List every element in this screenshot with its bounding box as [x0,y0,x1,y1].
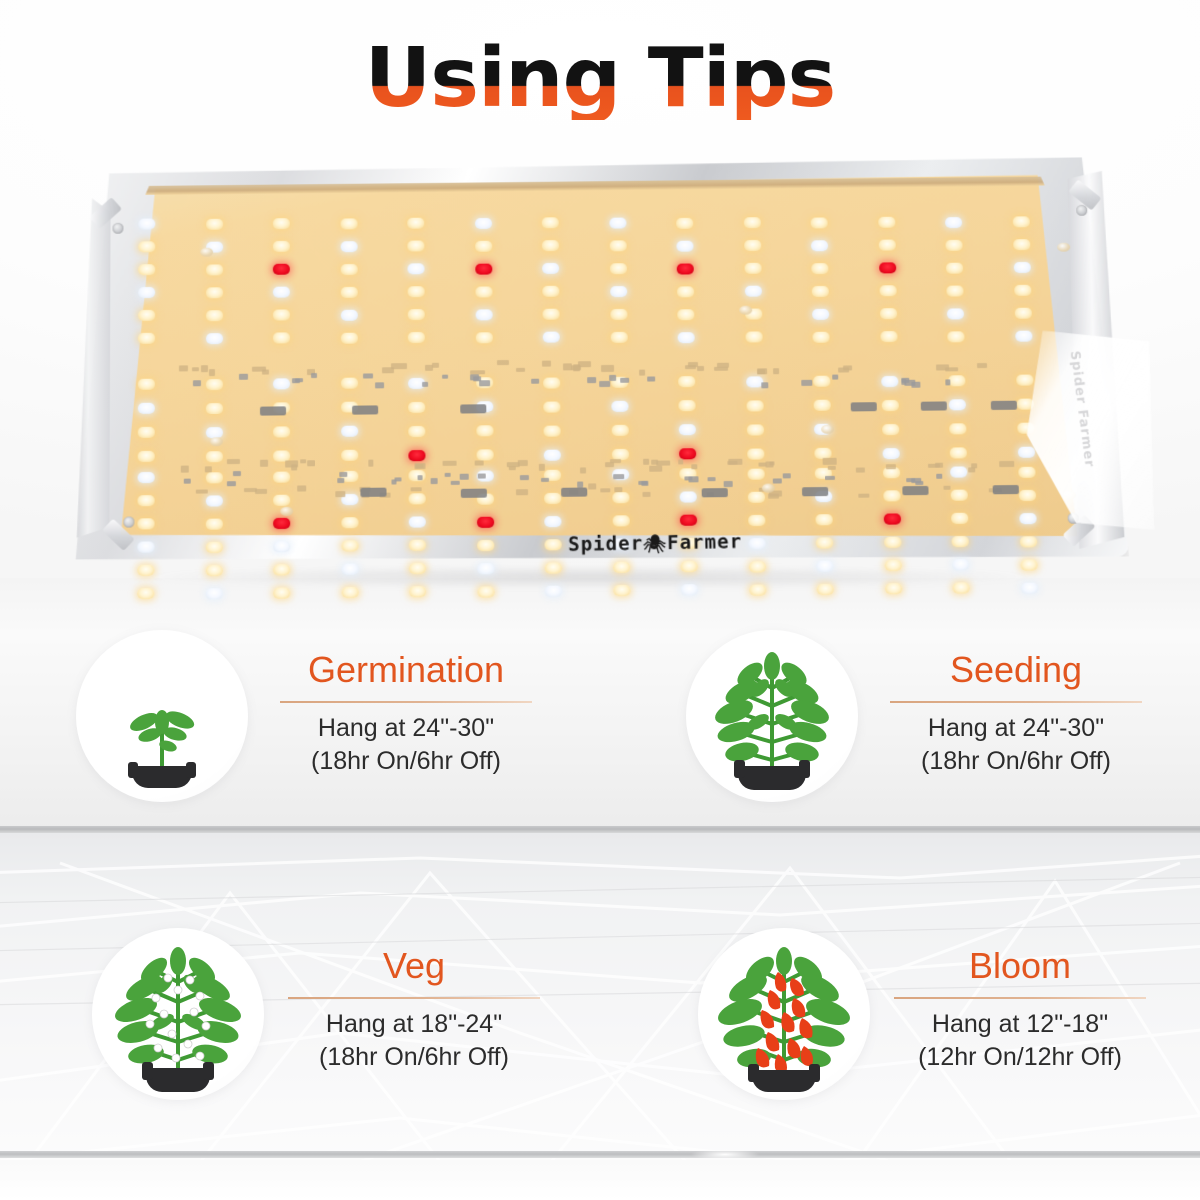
tip-icon-bubble [698,928,870,1100]
led-cool-white [678,332,695,343]
led-warm-white [138,451,155,462]
led-warm-white [881,400,898,411]
led-cool-white [408,264,425,275]
pcb-smd-component [691,464,697,469]
pcb-smd-component [539,464,545,471]
led-warm-white [812,286,829,297]
led-warm-white [950,447,967,458]
pcb-smd-component [432,363,439,368]
pcb-smd-component [209,369,215,376]
brand-name-right: Farmer [667,531,742,555]
pcb-smd-component [886,464,896,469]
led-warm-white [138,241,155,252]
pcb-smd-component [391,363,407,369]
pcb-smd-component [335,491,345,497]
led-cool-white [205,495,222,506]
pcb-smd-component [233,471,241,476]
led-cool-white [945,217,962,228]
pcb-smd-component [856,468,865,473]
led-warm-white [678,376,695,387]
pcb-smd-component [391,479,396,484]
tip-underline [288,997,540,999]
led-warm-white [542,286,559,297]
led-warm-white [1019,536,1036,547]
pcb-smd-component [641,481,648,486]
led-cool-white [744,286,761,297]
led-cool-white [545,585,562,596]
led-warm-white [748,561,765,572]
led-warm-white [952,583,969,594]
pcb-smd-component [497,360,509,365]
pcb-smd-component [600,488,610,492]
led-warm-white [743,217,760,228]
led-warm-white [745,332,762,343]
led-warm-white [138,427,155,438]
pcb-smd-component [516,368,525,372]
led-cool-white [611,401,628,412]
led-warm-white [409,540,426,551]
tip-underline [894,997,1146,999]
led-warm-white [205,379,222,390]
led-warm-white [878,217,895,228]
pcb-smd-component [724,481,733,487]
led-warm-white [205,541,222,552]
pcb-mount-hole [210,437,223,446]
pcb-smd-component [295,378,303,382]
led-cool-white [947,308,964,319]
pcb-smd-component [193,380,201,386]
led-warm-white [273,310,290,321]
led-warm-white [747,491,764,502]
led-warm-white [1016,375,1033,386]
pcb-smd-component [643,459,649,465]
pcb-connector-block [561,488,587,497]
pcb-smd-component [479,380,490,386]
led-warm-white [408,309,425,320]
tip-icon-bubble [92,928,264,1100]
led-warm-white [340,332,357,343]
pcb-smd-component [442,375,448,379]
led-cool-white [477,563,494,574]
led-warm-white [205,451,222,462]
led-warm-white [609,240,626,251]
pcb-smd-component [936,474,942,479]
led-cool-white [138,219,155,230]
led-warm-white [880,331,897,342]
pcb-smd-component [620,378,629,383]
led-warm-white [811,217,828,228]
led-warm-white [340,218,357,229]
led-warm-white [205,472,222,483]
led-warm-white [340,264,357,275]
led-warm-white [749,584,766,595]
led-warm-white [205,518,222,529]
pcb-smd-component [838,367,849,372]
led-warm-white [1018,466,1035,477]
led-warm-white [676,217,693,228]
led-cool-white [205,427,222,438]
panel-frame-left-edge [73,191,111,541]
pcb-mount-hole [739,306,752,315]
pcb-smd-component [968,467,975,472]
pcb-smd-component [518,460,528,466]
pcb-smd-component [599,381,610,387]
led-warm-white [341,587,358,598]
led-cool-white [340,241,357,252]
led-warm-white [884,560,901,571]
pcb-smd-component [307,460,315,466]
pcb-smd-component [727,461,737,465]
led-warm-white [951,513,968,524]
pcb-smd-component [227,481,236,486]
pcb-smd-component [337,478,344,483]
tip-light-cycle: (12hr On/12hr Off) [894,1041,1146,1074]
led-warm-white [746,400,763,411]
tip-title: Germination [280,652,532,688]
brand-name-left: Spider [568,532,643,556]
pcb-smd-component [531,379,539,384]
led-warm-white [341,540,358,551]
pcb-smd-component [708,477,716,481]
led-warm-white [1012,217,1029,228]
led-warm-white [475,332,492,343]
pcb-smd-component [285,460,298,467]
pcb-smd-component [773,478,782,483]
led-cool-white [882,448,899,459]
led-cool-white [950,467,967,478]
led-warm-white [137,565,154,576]
led-warm-white [138,310,155,321]
pcb-smd-component [252,367,266,372]
pcb-smd-component [588,483,596,489]
led-warm-white [408,426,425,437]
led-warm-white [138,379,155,390]
pcb-smd-component [757,369,765,374]
led-cool-white [610,286,627,297]
led-warm-white [748,514,765,525]
infographic-page: Using Tips Spider🕷Farmer Spider Farm [0,0,1200,1200]
led-warm-white [545,562,562,573]
flowering-plant-in-pot-icon [92,928,264,1100]
led-warm-white [544,493,561,504]
led-warm-white [408,332,425,343]
pcb-smd-component [311,373,317,378]
led-red [273,518,290,529]
pcb-smd-component [255,489,267,494]
led-warm-white [611,425,628,436]
tip-hang-height: Hang at 24"-30" [280,712,532,745]
led-warm-white [1014,285,1031,296]
pcb-smd-component [181,466,189,473]
pcb-smd-component [945,379,950,385]
pcb-connector-block [461,489,487,498]
pcb-smd-component [201,365,208,372]
led-warm-white [884,537,901,548]
led-warm-white [1013,239,1030,250]
pcb-smd-component [642,492,650,497]
led-warm-white [879,285,896,296]
led-warm-white [878,240,895,251]
pcb-connector-block [921,401,947,410]
led-cool-white [138,403,155,414]
pcb-smd-component [192,367,199,371]
tip-hang-height: Hang at 24"-30" [890,712,1142,745]
pcb-smd-component [999,461,1014,467]
led-cool-white [952,559,969,570]
led-cool-white [609,218,626,229]
led-warm-white [813,376,830,387]
led-warm-white [137,518,154,529]
tip-underline [890,701,1142,703]
leafy-plant-in-pot-icon [686,630,858,802]
led-warm-white [947,331,964,342]
led-cool-white [341,564,358,575]
pcb-smd-component [179,365,188,371]
pcb-smd-component [825,476,835,480]
led-warm-white [206,310,223,321]
pcb-smd-component [260,460,268,467]
tip-light-cycle: (18hr On/6hr Off) [280,745,532,778]
tip-hang-height: Hang at 12"-18" [894,1008,1146,1041]
section-divider-bottom [0,1151,1200,1158]
led-warm-white [273,471,290,482]
led-cool-white [475,309,492,320]
led-cool-white [206,333,223,344]
led-cool-white [543,332,560,343]
led-warm-white [341,517,358,528]
led-warm-white [812,331,829,342]
tip-light-cycle: (18hr On/6hr Off) [288,1041,540,1074]
led-warm-white [811,263,828,274]
pcb-connector-block [993,485,1019,494]
pcb-smd-component [339,472,347,477]
led-cool-white [681,584,698,595]
pcb-smd-component [297,485,306,491]
led-warm-white [945,240,962,251]
led-warm-white [613,562,630,573]
pcb-mount-hole [762,484,775,493]
pcb-smd-component [239,374,248,380]
pcb-smd-component [977,363,987,368]
pcb-smd-component [460,474,469,480]
led-warm-white [407,218,424,229]
led-warm-white [948,375,965,386]
pcb-smd-component [418,475,423,480]
led-cool-white [680,492,697,503]
led-warm-white [612,515,629,526]
led-red [477,516,494,527]
pcb-smd-component [610,459,621,463]
pcb-smd-component [761,382,768,388]
tip-icon-bubble [686,630,858,802]
pcb-smd-component [509,466,516,470]
tip-icon-bubble [76,630,248,802]
pcb-connector-block [702,488,728,497]
led-warm-white [138,495,155,506]
led-warm-white [477,586,494,597]
led-warm-white [273,564,290,575]
led-warm-white [814,400,831,411]
led-warm-white [879,308,896,319]
led-cool-white [812,308,829,319]
led-warm-white [476,425,493,436]
pcb-smd-component [184,479,191,484]
pcb-smd-component [783,473,791,478]
led-cool-white [881,376,898,387]
led-warm-white [952,536,969,547]
pcb-smd-component [685,365,696,369]
led-warm-white [206,218,223,229]
led-cool-white [1020,582,1037,593]
led-warm-white [543,377,560,388]
panel-screw [1076,205,1087,216]
led-warm-white [1020,559,1037,570]
led-warm-white [951,490,968,501]
pcb-smd-component [773,368,779,374]
led-red [879,263,896,274]
led-cool-white [273,378,290,389]
led-warm-white [205,403,222,414]
led-cool-white [138,472,155,483]
pcb-smd-component [227,459,240,464]
pcb-mount-hole [1057,243,1070,252]
pcb-smd-component [697,366,704,371]
led-warm-white [677,309,694,320]
led-warm-white [815,514,832,525]
led-warm-white [477,539,494,550]
footer-strip [0,1160,1200,1200]
led-cool-white [340,310,357,321]
pcb-smd-component [943,486,950,490]
pcb-smd-component [451,481,460,485]
pcb-smd-component [613,474,624,479]
pcb-smd-component [935,463,943,468]
led-red [680,515,697,526]
fruiting-pepper-plant-in-pot-icon [698,928,870,1100]
led-warm-white [882,424,899,435]
pcb-smd-component [915,481,923,485]
led-warm-white [678,400,695,411]
pcb-smd-component [431,478,438,484]
led-warm-white [273,218,290,229]
led-warm-white [1018,489,1035,500]
pcb-smd-component [801,380,812,386]
led-warm-white [747,448,764,459]
pcb-connector-block [851,402,877,411]
pcb-smd-component [714,367,728,371]
led-cool-white [1019,513,1036,524]
led-warm-white [138,264,155,275]
pcb-smd-component [580,467,586,473]
led-warm-white [677,286,694,297]
led-warm-white [205,564,222,575]
led-cool-white [205,588,222,599]
led-warm-white [138,333,155,344]
led-warm-white [612,492,629,503]
led-warm-white [885,583,902,594]
page-title-wrapper: Using Tips [0,38,1200,120]
led-warm-white [409,563,426,574]
led-warm-white [543,401,560,412]
led-warm-white [273,587,290,598]
led-warm-white [206,264,223,275]
led-cool-white [811,240,828,251]
pcb-smd-component [656,460,670,465]
led-warm-white [1014,308,1031,319]
tip-title: Veg [288,948,540,984]
pcb-connector-block [460,404,486,413]
pcb-smd-component [945,367,958,371]
led-cool-white [816,560,833,571]
led-warm-white [475,286,492,297]
section-divider-top [0,826,1200,833]
led-warm-white [544,425,561,436]
seedling-sprout-in-pot-icon [76,630,248,802]
pcb-connector-block [802,487,828,496]
led-cool-white [1013,262,1030,273]
tip-underline [280,701,532,703]
led-cool-white [273,541,290,552]
led-red [273,264,290,275]
led-red [408,450,425,461]
led-warm-white [475,241,492,252]
pcb-smd-component [473,376,481,381]
led-cool-white [544,449,561,460]
led-warm-white [946,262,963,273]
led-warm-white [946,285,963,296]
led-warm-white [476,449,493,460]
led-warm-white [816,537,833,548]
led-warm-white [747,468,764,479]
led-cool-white [1017,447,1034,458]
led-red [883,513,900,524]
led-warm-white [543,309,560,320]
led-cool-white [475,218,492,229]
pcb-smd-component [573,364,580,371]
led-warm-white [273,333,290,344]
led-cool-white [676,240,693,251]
pcb-connector-block [991,401,1017,410]
pcb-smd-component [614,487,622,492]
led-cool-white [542,263,559,274]
page-title: Using Tips [365,38,836,120]
led-cool-white [1015,331,1032,342]
led-cool-white [746,376,763,387]
led-warm-white [408,402,425,413]
led-warm-white [407,241,424,252]
led-warm-white [609,263,626,274]
pcb-smd-component [678,459,683,464]
pcb-connector-block [260,406,286,415]
pcb-smd-component [609,375,616,381]
led-cool-white [137,542,154,553]
pcb-smd-component [375,382,384,388]
led-warm-white [680,561,697,572]
pcb-smd-component [601,365,614,372]
pcb-connector-block [902,486,928,495]
pcb-smd-component [363,373,373,378]
led-cool-white [273,287,290,298]
pcb-smd-component [414,463,425,469]
pcb-smd-component [587,377,596,383]
pcb-smd-component [205,466,212,472]
pcb-smd-component [196,489,208,493]
pcb-smd-component [639,370,645,376]
pcb-smd-component [563,363,572,370]
pcb-smd-component [541,478,549,482]
pcb-smd-component [368,460,373,467]
led-warm-white [341,450,358,461]
